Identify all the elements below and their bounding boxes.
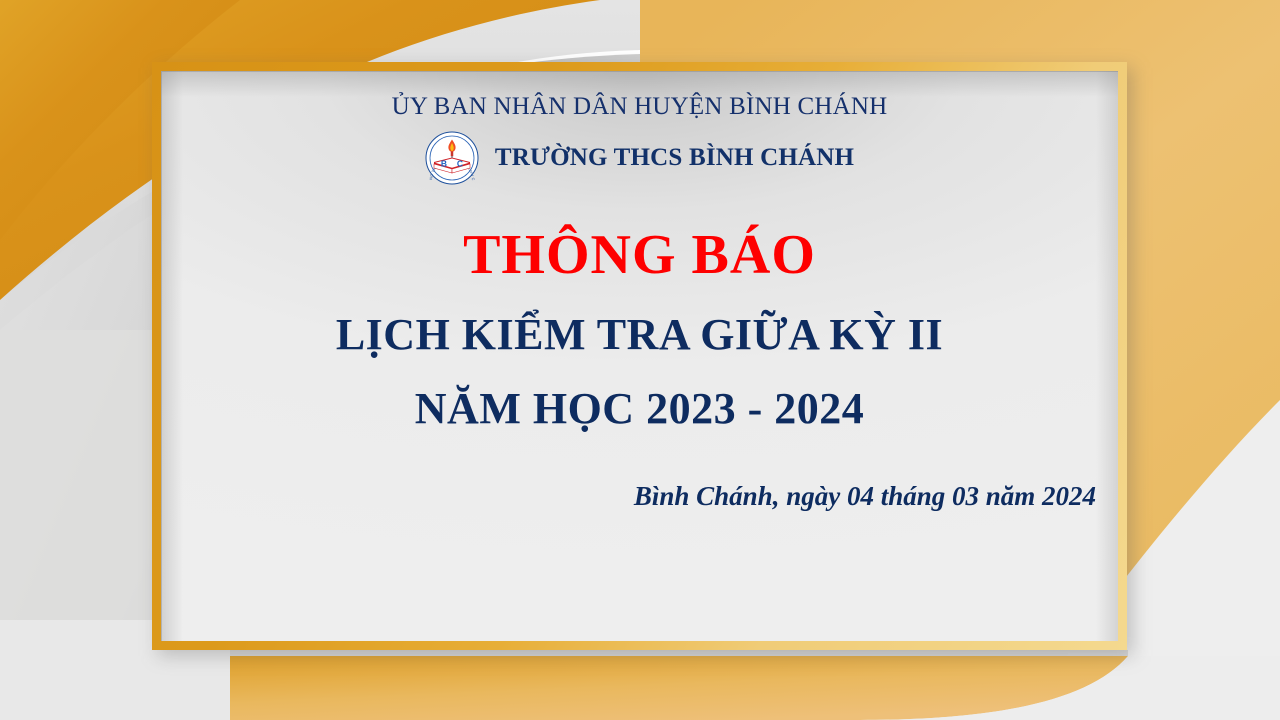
announcement-title: THÔNG BÁO (161, 223, 1118, 287)
slide-content: ỦY BAN NHÂN DÂN HUYỆN BÌNH CHÁNH TRƯỜNG … (161, 71, 1118, 641)
school-emblem-svg: TRƯỜNG TRUNG HỌC CƠ SỞ BÌNH CHÁNH B C (425, 131, 479, 185)
date-location-line: Bình Chánh, ngày 04 tháng 03 năm 2024 (634, 481, 1096, 512)
announcement-subtitle-line2: NĂM HỌC 2023 - 2024 (161, 383, 1118, 434)
school-emblem-icon: TRƯỜNG TRUNG HỌC CƠ SỞ BÌNH CHÁNH B C (425, 131, 479, 185)
slide-canvas: ỦY BAN NHÂN DÂN HUYỆN BÌNH CHÁNH TRƯỜNG … (0, 0, 1280, 720)
school-name-heading: TRƯỜNG THCS BÌNH CHÁNH (495, 144, 854, 172)
organization-heading: ỦY BAN NHÂN DÂN HUYỆN BÌNH CHÁNH (161, 93, 1118, 121)
emblem-initial-left: B (441, 159, 447, 169)
bg-gold-bottom-curve (230, 656, 1128, 720)
school-heading-row: TRƯỜNG TRUNG HỌC CƠ SỞ BÌNH CHÁNH B C (161, 131, 1118, 185)
emblem-initial-right: C (457, 159, 463, 169)
announcement-subtitle-line1: LỊCH KIỂM TRA GIỮA KỲ II (161, 309, 1118, 360)
